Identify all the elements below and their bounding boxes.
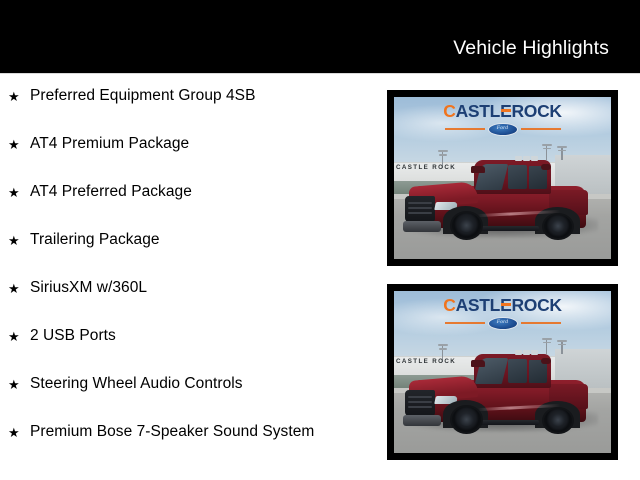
watermark-line-left: [445, 322, 485, 324]
wheel-hub: [459, 413, 474, 426]
rear-wheel: [542, 407, 574, 434]
vehicle-photo-1[interactable]: CASTLE ROCK: [387, 90, 618, 266]
list-item-label: AT4 Premium Package: [30, 128, 366, 154]
ford-oval-logo-icon: Ford: [488, 123, 518, 136]
list-item-label: Trailering Package: [30, 224, 366, 250]
star-bullet-icon: ★: [8, 233, 20, 249]
front-bumper: [403, 221, 442, 231]
front-wheel: [450, 405, 483, 434]
vehicle-photo-2-image: CASTLE ROCK: [394, 291, 611, 453]
list-item-label: Premium Bose 7-Speaker Sound System: [30, 416, 366, 442]
wheel-hub: [551, 220, 565, 232]
star-bullet-icon: ★: [8, 137, 20, 153]
grille-bar: [408, 401, 432, 403]
watermark-letters-astl: ASTL: [456, 295, 501, 315]
star-bullet-icon: ★: [8, 185, 20, 201]
rear-side-mirror: [541, 358, 551, 364]
vehicle-truck: [401, 149, 605, 243]
star-bullet-icon: ★: [8, 89, 20, 105]
list-item: ★ Premium Bose 7-Speaker Sound System: [0, 416, 372, 464]
front-grille: [405, 196, 436, 222]
list-item: ★ Steering Wheel Audio Controls: [0, 368, 372, 416]
vehicle-photo-2[interactable]: CASTLE ROCK: [387, 284, 618, 460]
list-item: ★ 2 USB Ports: [0, 320, 372, 368]
rear-side-mirror: [541, 164, 551, 170]
list-item-label: SiriusXM w/360L: [30, 272, 366, 298]
list-item-label: Preferred Equipment Group 4SB: [30, 80, 366, 106]
ford-badge-text: Ford: [497, 126, 508, 131]
list-item: ★ Trailering Package: [0, 224, 372, 272]
watermark-line-left: [445, 128, 485, 130]
grille-bar: [408, 207, 432, 209]
side-mirror: [471, 166, 485, 174]
wheel-hub: [459, 219, 474, 232]
grille-bar: [408, 202, 432, 204]
watermark-line-right: [521, 322, 561, 324]
vehicle-highlights-list: ★ Preferred Equipment Group 4SB ★ AT4 Pr…: [0, 80, 372, 464]
watermark-letters-rock: ROCK: [511, 295, 561, 315]
slide-root: Vehicle Highlights ★ Preferred Equipment…: [0, 0, 640, 480]
list-item-label: Steering Wheel Audio Controls: [30, 368, 366, 394]
watermark-letters-rock: ROCK: [511, 101, 561, 121]
grille-bar: [408, 406, 432, 408]
rear-wheel: [542, 213, 574, 240]
front-door-window: [508, 165, 527, 189]
side-mirror: [471, 360, 485, 368]
dealer-watermark: CASTLEROCK Ford: [394, 103, 611, 136]
watermark-letters-astl: ASTL: [456, 101, 501, 121]
star-bullet-icon: ★: [8, 377, 20, 393]
ford-badge-text: Ford: [497, 320, 508, 325]
star-bullet-icon: ★: [8, 281, 20, 297]
watermark-letter-c: C: [443, 295, 455, 315]
dealer-watermark: CASTLEROCK Ford: [394, 297, 611, 330]
front-wheel: [450, 211, 483, 240]
roof-marker-lights: [515, 156, 544, 161]
list-item: ★ SiriusXM w/360L: [0, 272, 372, 320]
front-door-window: [508, 359, 527, 383]
roof-marker-lights: [515, 350, 544, 355]
header-divider: [0, 73, 640, 74]
front-bumper: [403, 415, 442, 425]
list-item: ★ AT4 Preferred Package: [0, 176, 372, 224]
ford-oval-logo-icon: Ford: [488, 317, 518, 330]
list-item-label: AT4 Preferred Package: [30, 176, 366, 202]
list-item: ★ AT4 Premium Package: [0, 128, 372, 176]
watermark-letter-e: E: [500, 101, 511, 121]
watermark-ford-row: Ford: [394, 317, 611, 330]
watermark-letter-c: C: [443, 101, 455, 121]
vehicle-photo-1-image: CASTLE ROCK: [394, 97, 611, 259]
list-item-label: 2 USB Ports: [30, 320, 366, 346]
page-title: Vehicle Highlights: [453, 36, 609, 60]
star-bullet-icon: ★: [8, 329, 20, 345]
watermark-ford-row: Ford: [394, 123, 611, 136]
front-grille: [405, 390, 436, 416]
watermark-letter-e: E: [500, 295, 511, 315]
grille-bar: [408, 212, 432, 214]
header-bar: Vehicle Highlights: [0, 0, 640, 73]
vehicle-truck: [401, 343, 605, 437]
star-bullet-icon: ★: [8, 425, 20, 441]
list-item: ★ Preferred Equipment Group 4SB: [0, 80, 372, 128]
watermark-line-right: [521, 128, 561, 130]
wheel-hub: [551, 414, 565, 426]
grille-bar: [408, 396, 432, 398]
